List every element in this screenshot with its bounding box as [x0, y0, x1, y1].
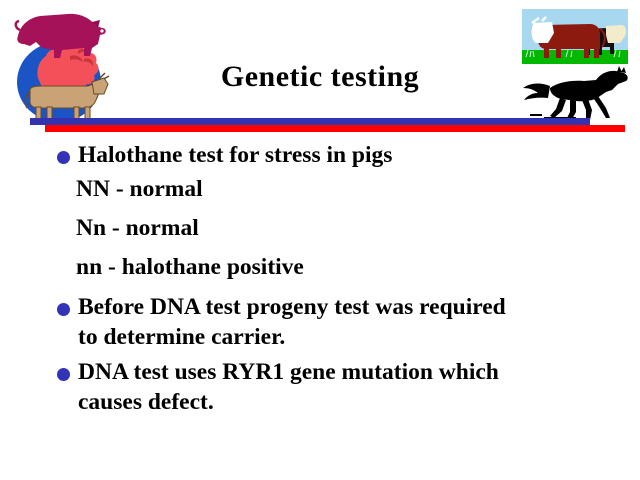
page-title: Genetic testing — [120, 62, 520, 92]
list-item-text: Before DNA test progeny test was require… — [78, 292, 640, 352]
slide-canvas: Genetic testing — [0, 0, 640, 480]
bullet-dot-icon — [57, 368, 70, 381]
sub-list-item: nn - halothane positive — [0, 248, 640, 287]
list-item-text: DNA test uses RYR1 gene mutation which c… — [78, 357, 640, 417]
sub-list-item-text: Nn - normal — [76, 209, 540, 248]
sub-list-item-text: nn - halothane positive — [76, 248, 540, 287]
livestock-emblem-icon — [12, 4, 110, 126]
sub-list-item: NN - normal — [0, 170, 640, 209]
list-item: Halothane test for stress in pigs — [0, 140, 640, 170]
slide-header: Genetic testing — [0, 0, 640, 134]
bullet-dot-icon — [57, 303, 70, 316]
divider-bar-red — [45, 125, 625, 132]
galloping-horse-icon — [520, 66, 632, 124]
divider-bar-blue — [30, 118, 590, 125]
sub-list-item-text: NN - normal — [76, 170, 540, 209]
list-item: DNA test uses RYR1 gene mutation which c… — [0, 357, 640, 417]
sub-list-item: Nn - normal — [0, 209, 640, 248]
list-item-text: Halothane test for stress in pigs — [78, 140, 640, 170]
slide-body: Halothane test for stress in pigs NN - n… — [0, 140, 640, 417]
bullet-dot-icon — [57, 151, 70, 164]
list-item: Before DNA test progeny test was require… — [0, 292, 640, 352]
cattle-pasture-photo — [522, 9, 628, 64]
